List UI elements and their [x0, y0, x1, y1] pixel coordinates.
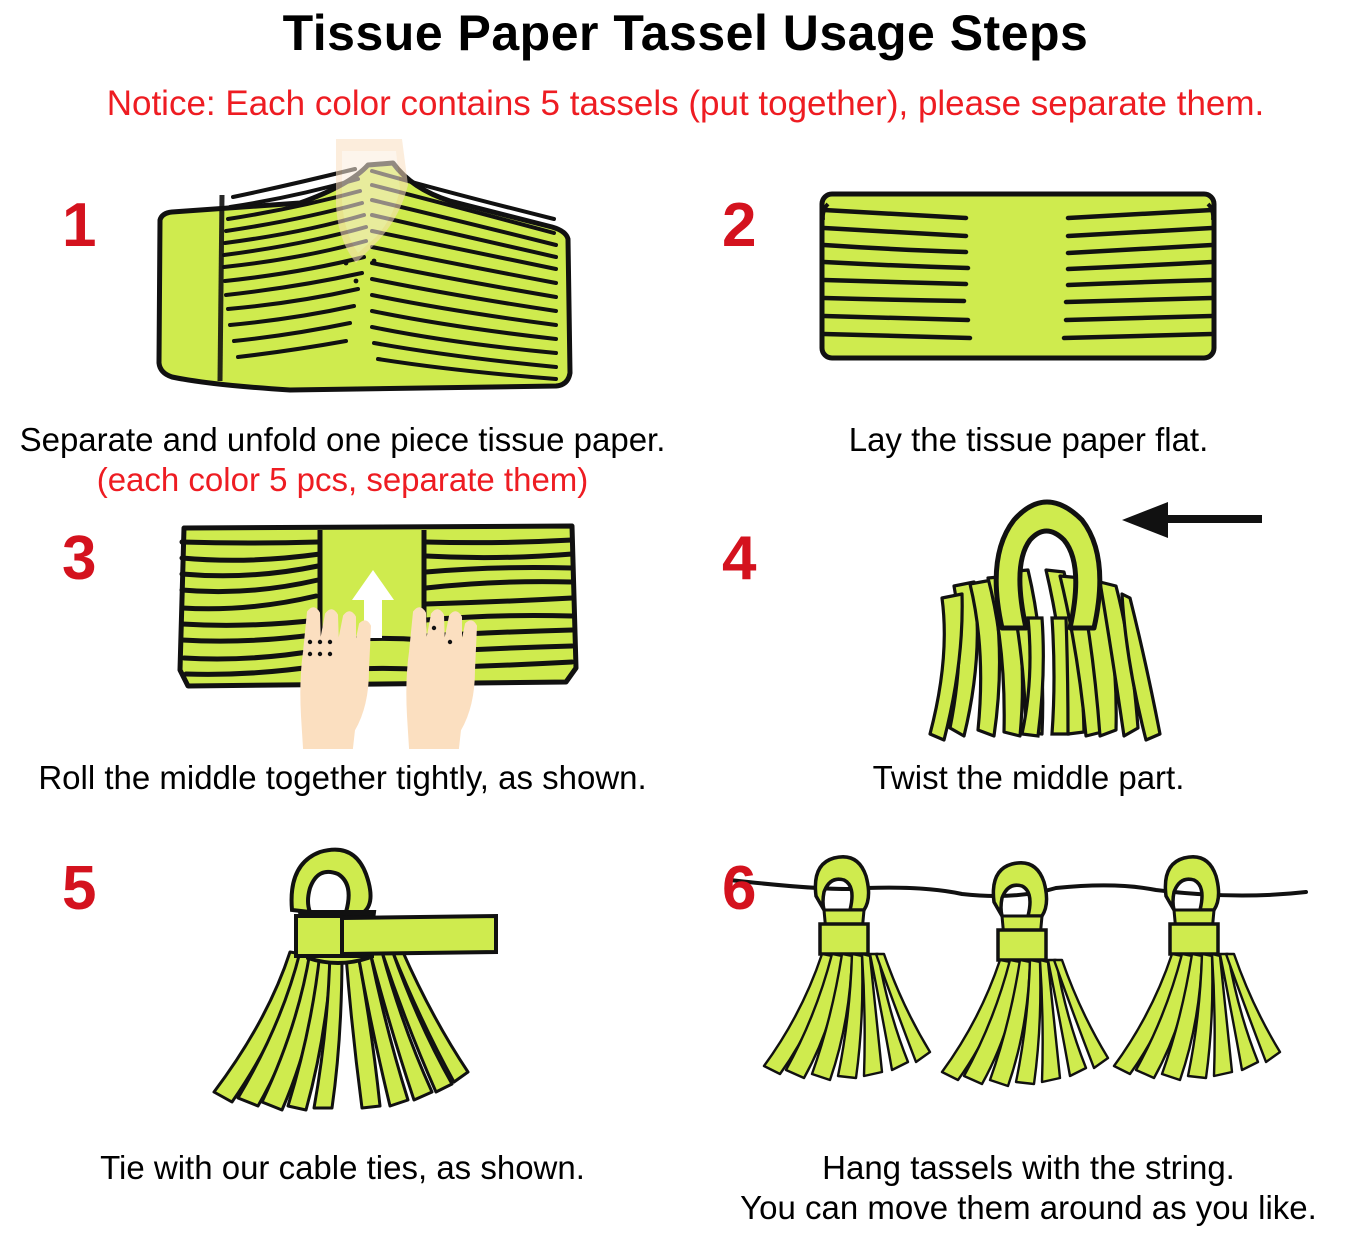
step-1: 1 — [0, 140, 685, 520]
step-1-caption: Separate and unfold one piece tissue pap… — [0, 420, 685, 460]
step-3: 3 — [0, 520, 685, 840]
tassel — [1114, 857, 1280, 1080]
step-2-caption: Lay the tissue paper flat. — [686, 420, 1371, 460]
instruction-sheet: Tissue Paper Tassel Usage Steps Notice: … — [0, 0, 1371, 1254]
step-5-illustration — [196, 840, 526, 1140]
step-6-number: 6 — [722, 858, 756, 920]
page-title: Tissue Paper Tassel Usage Steps — [0, 4, 1371, 62]
step-3-number: 3 — [62, 528, 96, 590]
unfolded-tissue-paper-with-hand — [150, 145, 580, 395]
step-2-number: 2 — [722, 195, 756, 257]
left-hand-icon — [301, 608, 370, 748]
step-5-caption: Tie with our cable ties, as shown. — [0, 1148, 685, 1188]
steps-grid: 1 — [0, 140, 1371, 1254]
tassel-with-cable-tie — [196, 840, 526, 1140]
step-4-illustration — [846, 478, 1266, 768]
step-6: 6 — [686, 840, 1371, 1254]
step-2: 2 — [686, 140, 1371, 520]
step-3-caption: Roll the middle together tightly, as sho… — [0, 758, 685, 798]
three-tassels-hanging-on-string — [716, 858, 1316, 1128]
step-5-number: 5 — [62, 858, 96, 920]
twisted-tassel-with-arrow — [846, 478, 1266, 768]
left-arrow-icon — [1122, 502, 1262, 538]
step-1-sub-caption: (each color 5 pcs, separate them) — [0, 460, 685, 500]
step-1-number: 1 — [62, 195, 96, 257]
cable-tie-icon — [296, 916, 496, 956]
step-5: 5 — [0, 840, 685, 1254]
step-2-illustration — [818, 188, 1218, 368]
step-4-number: 4 — [722, 528, 756, 590]
notice-line: Notice: Each color contains 5 tassels (p… — [0, 84, 1371, 124]
step-4-caption: Twist the middle part. — [686, 758, 1371, 798]
right-hand-icon — [407, 608, 476, 748]
step-6-sub-caption: You can move them around as you like. — [686, 1188, 1371, 1228]
step-1-illustration — [150, 145, 580, 395]
step-6-illustration — [716, 858, 1316, 1128]
step-6-caption: Hang tassels with the string. — [686, 1148, 1371, 1188]
step-3-illustration — [168, 520, 588, 750]
flat-folded-tissue-paper — [818, 188, 1218, 368]
rolling-middle-with-two-hands — [168, 520, 588, 750]
step-4: 4 — [686, 520, 1371, 840]
